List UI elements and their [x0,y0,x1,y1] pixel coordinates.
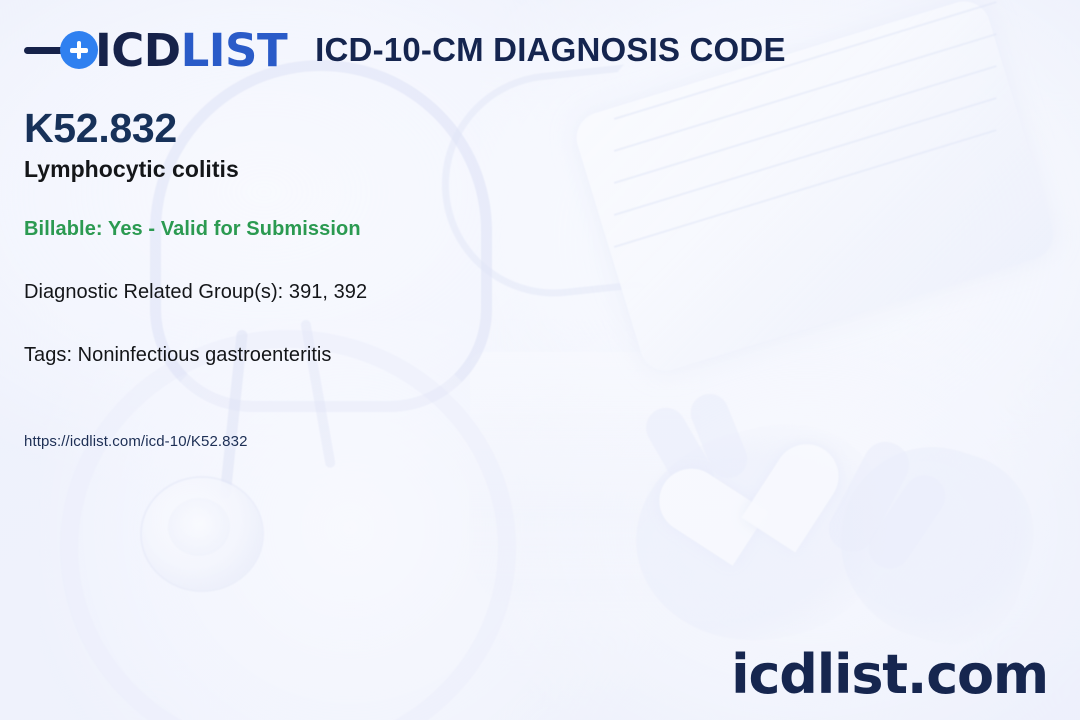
icd-code-card: ICD LIST ICD-10-CM DIAGNOSIS CODE K52.83… [0,0,1080,720]
page-header: ICD LIST ICD-10-CM DIAGNOSIS CODE [0,0,1080,100]
icd-code-value: K52.832 [24,106,724,152]
logo-word-list: LIST [181,28,288,73]
source-url-link[interactable]: https://icdlist.com/icd-10/K52.832 [24,433,248,450]
stethoscope-chestpiece-icon [142,478,262,590]
hand-icon [815,423,1054,662]
footer-brand-wordmark: icdlist.com [731,648,1048,702]
icd-code-description: Lymphocytic colitis [24,156,724,183]
billable-status-badge: Billable: Yes - Valid for Submission [24,218,724,241]
page-title: ICD-10-CM DIAGNOSIS CODE [315,31,786,69]
plus-icon [60,31,98,69]
finger-shape [821,434,917,560]
tags-line: Tags: Noninfectious gastroenteritis [24,344,724,367]
plus-icon-vertical-bar [77,41,82,59]
finger-shape [861,467,954,577]
icdlist-logo[interactable]: ICD LIST [24,28,287,73]
heart-icon [678,440,832,594]
diagnostic-related-group: Diagnostic Related Group(s): 391, 392 [24,281,724,304]
logo-word-icd: ICD [95,28,181,73]
code-details: K52.832 Lymphocytic colitis Billable: Ye… [24,106,724,451]
stethoscope-chestpiece-inner [168,498,230,556]
